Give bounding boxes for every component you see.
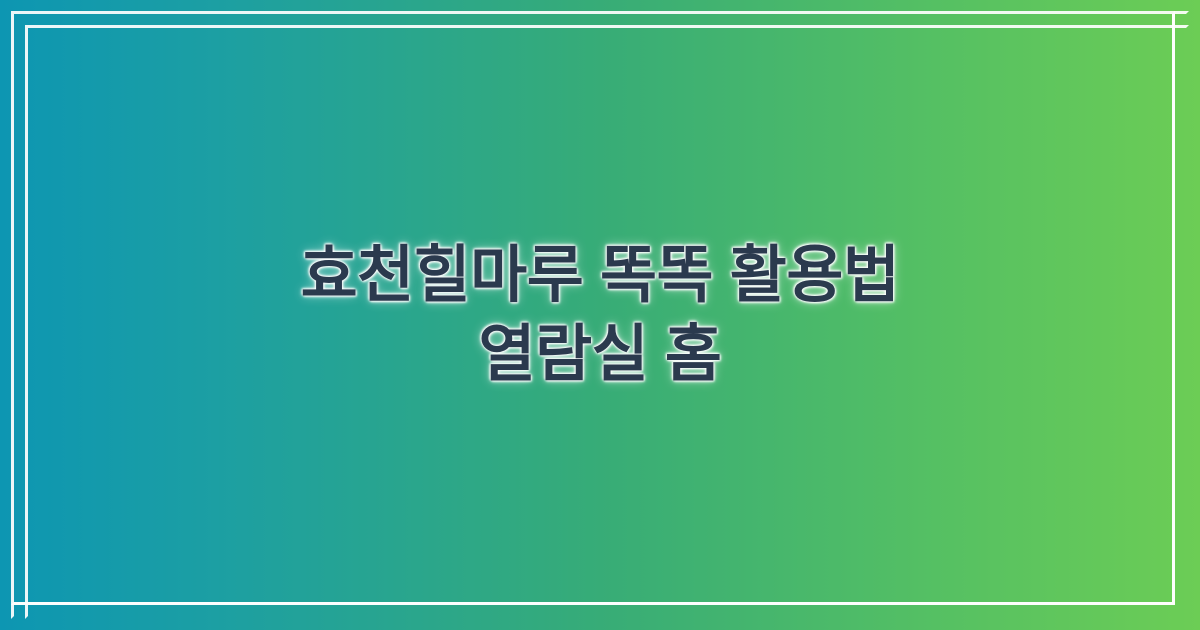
page-title-line-2: 열람실 홈	[479, 315, 722, 394]
thumbnail-card: 효천힐마루 똑똑 활용법 열람실 홈	[0, 0, 1200, 630]
page-title: 효천힐마루 똑똑 활용법 열람실 홈	[0, 0, 1200, 630]
page-title-line-1: 효천힐마루 똑똑 활용법	[301, 236, 900, 315]
